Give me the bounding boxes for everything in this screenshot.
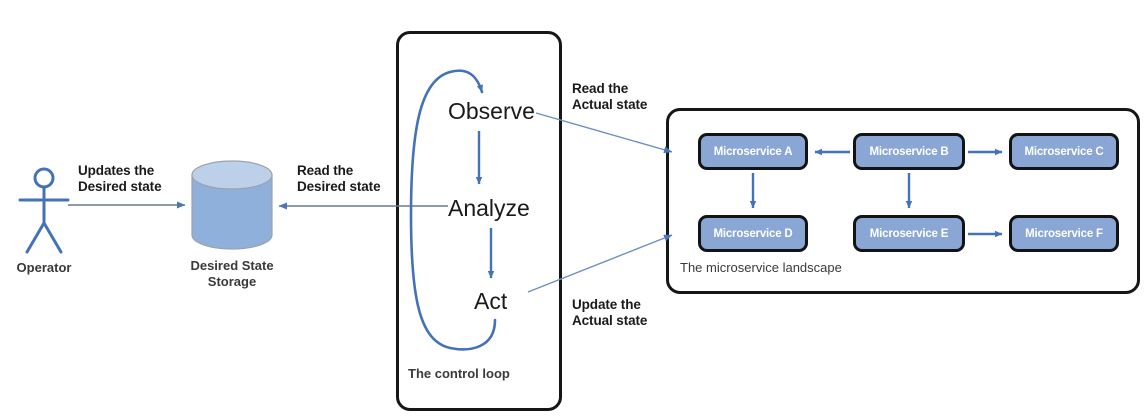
microservice-node-a[interactable]: Microservice A [698,133,808,170]
connector-label-read-desired-state: Read the Desired state [297,163,381,195]
control-loop-box [396,31,562,411]
actor-operator-caption: Operator [4,260,84,276]
microservice-node-f[interactable]: Microservice F [1009,215,1119,252]
microservice-node-b[interactable]: Microservice B [853,133,965,170]
control-loop-step-observe: Observe [448,98,535,124]
desired-state-storage-caption: Desired State Storage [172,258,292,290]
control-loop-step-act: Act [474,288,507,314]
connector-label-read-actual-state: Read the Actual state [572,81,647,113]
control-loop-caption: The control loop [408,366,558,382]
microservice-landscape-caption: The microservice landscape [680,260,910,276]
microservice-node-c[interactable]: Microservice C [1009,133,1119,170]
connector-label-update-actual-state: Update the Actual state [572,297,647,329]
microservice-node-e[interactable]: Microservice E [853,215,965,252]
microservice-node-d[interactable]: Microservice D [698,215,808,252]
connector-label-updates-desired-state: Updates the Desired state [78,163,162,195]
diagram-canvas: Operator Desired State Storage Observe A… [0,0,1144,419]
control-loop-step-analyze: Analyze [448,195,530,221]
